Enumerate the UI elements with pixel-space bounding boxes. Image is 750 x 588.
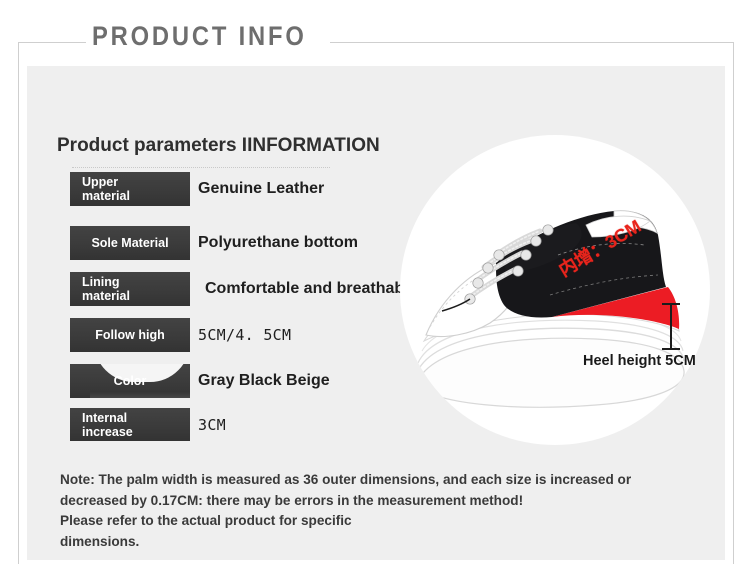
- param-value: Genuine Leather: [198, 172, 324, 206]
- param-value: Gray Black Beige: [198, 364, 330, 398]
- note-line-3: Please refer to the actual product for s…: [60, 511, 680, 532]
- shoe-illustration: [400, 135, 710, 445]
- frame-border-right: [733, 42, 734, 564]
- note-line-4: dimensions.: [60, 532, 680, 553]
- header-rule-right: [330, 42, 734, 43]
- param-label-badge: Sole Material: [70, 226, 190, 260]
- frame-border-left: [18, 42, 19, 564]
- annotation-heel-height: Heel height 5CM: [583, 353, 696, 369]
- header-rule-left: [18, 42, 86, 43]
- param-label-badge: Upper material: [70, 172, 190, 206]
- note-block: Note: The palm width is measured as 36 o…: [60, 470, 680, 552]
- param-value: 5CM/4. 5CM: [198, 318, 291, 352]
- section-heading: Product parameters IINFORMATION: [57, 134, 380, 157]
- param-value: 3CM: [198, 408, 226, 442]
- page-title: PRODUCT INFO: [92, 21, 307, 52]
- badge-glare-artifact-2: [90, 392, 190, 398]
- param-value: Polyurethane bottom: [198, 226, 358, 260]
- measure-cap-bottom: [662, 348, 680, 350]
- product-info-page: PRODUCT INFO Product parameters IINFORMA…: [0, 0, 750, 588]
- param-label-badge: Lining material: [70, 272, 190, 306]
- heel-measurement-marker: [662, 303, 680, 350]
- param-label-badge: Color: [70, 364, 190, 398]
- product-photo: [400, 135, 710, 445]
- measure-stem: [670, 303, 672, 350]
- param-label-badge: Internal increase: [70, 408, 190, 441]
- note-line-1: Note: The palm width is measured as 36 o…: [60, 470, 680, 491]
- heading-divider: [72, 167, 330, 169]
- note-line-2: decreased by 0.17CM: there may be errors…: [60, 491, 680, 512]
- param-label-badge: Follow high: [70, 318, 190, 352]
